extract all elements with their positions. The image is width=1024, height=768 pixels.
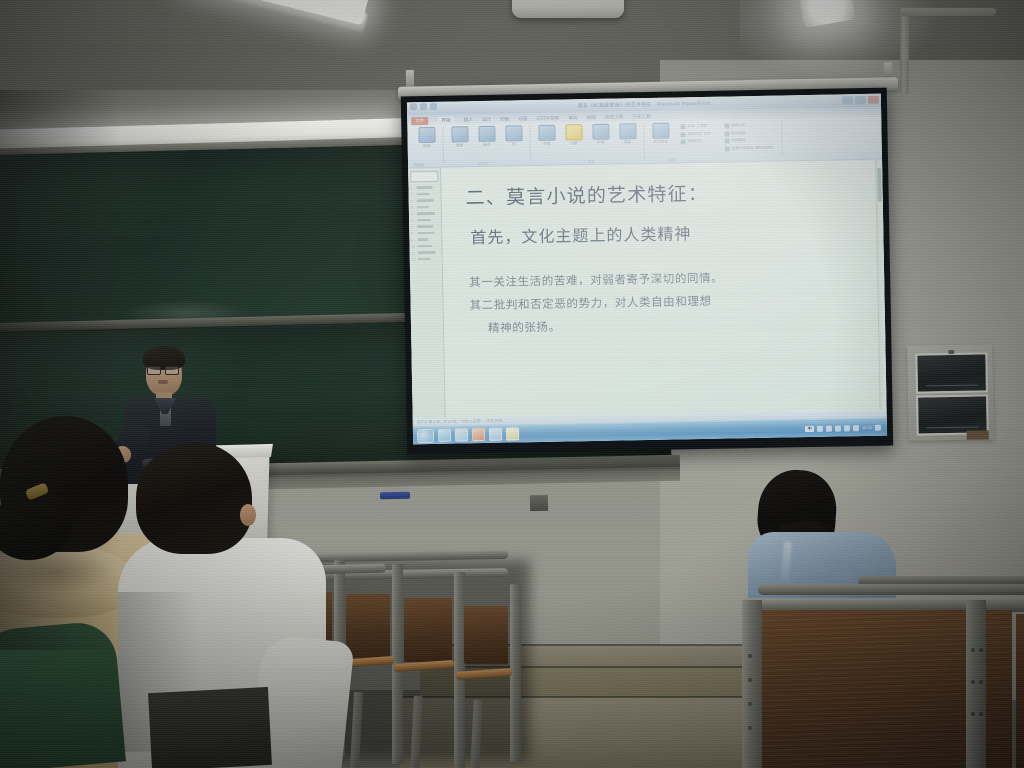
outline-row[interactable]: 8 bbox=[411, 231, 439, 236]
outline-row[interactable]: 7 bbox=[411, 224, 439, 229]
section-icon bbox=[505, 125, 522, 141]
outline-row[interactable]: 3 bbox=[411, 198, 439, 203]
ribbon-group-font-label: 字体 bbox=[588, 159, 595, 164]
ribbon-button-section[interactable]: 节 bbox=[502, 125, 524, 147]
outline-row[interactable]: 10 bbox=[412, 244, 440, 249]
ribbon-small-find[interactable]: 查找替换 bbox=[724, 130, 773, 136]
slide-number: 1 bbox=[410, 186, 414, 190]
desk-bolt bbox=[971, 712, 975, 716]
slide-number: 9 bbox=[411, 238, 415, 242]
outline-row[interactable]: 4 bbox=[411, 205, 439, 210]
ribbon-button-color-label: 颜色 bbox=[624, 140, 631, 145]
slide-number: 8 bbox=[411, 231, 415, 235]
student-front-center-hair bbox=[136, 442, 252, 554]
outline-row[interactable]: 9 bbox=[411, 237, 439, 242]
network-icon[interactable] bbox=[826, 425, 832, 431]
ribbon-button-layout[interactable]: 版式 bbox=[475, 126, 497, 148]
battery-icon[interactable] bbox=[835, 425, 841, 431]
slide-scrollbar-thumb[interactable] bbox=[877, 168, 882, 202]
outline-row[interactable]: 12 bbox=[412, 257, 440, 262]
slide-subtitle: 首先，文化主题上的人类精神 bbox=[470, 217, 869, 248]
desk-bolt bbox=[979, 680, 983, 684]
desk-bolt bbox=[748, 678, 752, 682]
outline-line bbox=[416, 186, 432, 189]
slide-number: 4 bbox=[411, 205, 415, 209]
desk-bolt bbox=[748, 654, 752, 658]
color-icon bbox=[619, 123, 636, 139]
foreground-chair-corner bbox=[148, 687, 272, 768]
seat-backrest bbox=[464, 606, 508, 664]
desk-bolt bbox=[971, 648, 975, 652]
shape-icon bbox=[680, 124, 685, 129]
powerpoint-window: 莫言《红高粱家族》的艺术特征 - Microsoft PowerPoint 文件… bbox=[407, 94, 887, 445]
internet-explorer-icon[interactable] bbox=[438, 429, 451, 442]
outline-line bbox=[417, 212, 435, 215]
ribbon-small-quickstyle-label: 快速样式 bbox=[688, 139, 702, 144]
outline-line bbox=[418, 251, 436, 254]
status-theme: “Office 主题” bbox=[461, 419, 481, 424]
slide-body-line: 精神的张扬。 bbox=[470, 313, 871, 336]
slide-number: 12 bbox=[412, 257, 416, 261]
outline-line bbox=[417, 238, 428, 241]
ribbon-small-quickstyle[interactable]: 快速样式 bbox=[681, 139, 712, 145]
outline-line bbox=[417, 225, 433, 228]
projection-screen-surface: 莫言《红高粱家族》的艺术特征 - Microsoft PowerPoint 文件… bbox=[407, 94, 887, 445]
ribbon-group-font[interactable]: 字体 加粗 字号 颜色 字体 bbox=[530, 123, 645, 161]
desk-frame-left bbox=[742, 600, 762, 768]
ribbon-button-shape-style-label: 形状样式 bbox=[653, 140, 667, 145]
slide-number: 6 bbox=[411, 218, 415, 222]
outline-row[interactable]: 5 bbox=[411, 211, 439, 216]
system-tray[interactable]: 中 10:24 bbox=[805, 424, 883, 431]
wall-speaker-upper-line bbox=[926, 384, 978, 386]
wall-conduit-vertical bbox=[900, 8, 909, 94]
desk-bolt bbox=[748, 726, 752, 730]
ribbon-button-font-label: 字体 bbox=[543, 142, 550, 147]
ribbon-group-clipboard[interactable]: 粘贴 剪贴板 bbox=[410, 127, 444, 164]
ppt-title-text: 莫言《红高粱家族》的艺术特征 - Microsoft PowerPoint bbox=[578, 100, 711, 109]
outline-row[interactable]: 2 bbox=[411, 192, 439, 197]
explorer-icon[interactable] bbox=[489, 428, 502, 441]
close-icon[interactable] bbox=[868, 96, 879, 104]
wall-conduit-horizontal bbox=[900, 8, 996, 16]
status-language: 中文(中国) bbox=[486, 418, 503, 423]
outline-line bbox=[418, 245, 433, 248]
desk-bolt bbox=[971, 680, 975, 684]
outline-row[interactable]: 11 bbox=[412, 250, 440, 255]
ribbon-button-paste[interactable]: 粘贴 bbox=[415, 127, 437, 149]
slide-number: 5 bbox=[411, 212, 415, 216]
edit-icon bbox=[724, 123, 729, 128]
selection-pane-icon bbox=[724, 138, 729, 143]
wall-panel-button-upper[interactable] bbox=[949, 350, 955, 354]
left-wall-shadow bbox=[0, 90, 120, 650]
ribbon-group-clipboard-label: 剪贴板 bbox=[414, 162, 424, 167]
seat-leg bbox=[470, 700, 483, 768]
quick-style-icon bbox=[681, 139, 686, 144]
shield-icon[interactable] bbox=[844, 425, 850, 431]
ceiling-projector bbox=[512, 0, 624, 18]
outline-line bbox=[417, 232, 434, 235]
new-slide-icon bbox=[451, 126, 468, 142]
ribbon-small-selpane[interactable]: 选择窗格 bbox=[724, 138, 773, 144]
blue-chalk-eraser bbox=[380, 492, 410, 500]
start-button[interactable] bbox=[417, 428, 434, 442]
ribbon-group-slides[interactable]: 新建 版式 节 幻灯片 bbox=[443, 125, 531, 163]
eyeglasses-right-lens bbox=[165, 366, 179, 375]
ribbon-small-edit-label: 编辑中文 bbox=[731, 123, 745, 128]
outline-row[interactable]: 6 bbox=[411, 218, 439, 223]
outline-line bbox=[417, 199, 434, 202]
ribbon-button-paste-label: 粘贴 bbox=[423, 144, 430, 149]
desk-bolt bbox=[748, 702, 752, 706]
ribbon-small-edit[interactable]: 编辑中文 bbox=[724, 123, 773, 129]
ribbon-small-shape[interactable]: 形状: 三角形 bbox=[680, 124, 711, 130]
desk-wood-panel-right-edge bbox=[1016, 614, 1024, 768]
slide-number: 11 bbox=[412, 251, 416, 255]
firefox-icon[interactable] bbox=[472, 428, 485, 441]
volume-icon[interactable] bbox=[817, 425, 823, 431]
status-slide-counter: 幻灯片 第 8 张，共 24 张 bbox=[417, 419, 457, 425]
slide-canvas[interactable]: 二、莫言小说的艺术特征： 首先，文化主题上的人类精神 其一关注生活的苦难，对弱者… bbox=[441, 160, 887, 418]
save-icon[interactable] bbox=[410, 103, 417, 110]
outline-line bbox=[417, 219, 431, 222]
slide-body: 其一关注生活的苦难，对弱者寄予深切的同情。 其二批判和否定恶的势力，对人类自由和… bbox=[469, 267, 871, 336]
ribbon-button-bold[interactable]: 加粗 bbox=[562, 124, 584, 146]
ribbon-small-arrange-label: 排列方式: 对齐 bbox=[687, 131, 711, 136]
slide-body-line: 其一关注生活的苦难，对弱者寄予深切的同情。 bbox=[469, 267, 870, 290]
arrange-icon bbox=[680, 132, 685, 137]
ribbon-group-slides-label: 幻灯片 bbox=[478, 161, 488, 166]
ribbon-button-bold-label: 加粗 bbox=[570, 141, 577, 146]
ribbon-small-format-label: 设置形状格式: 填充与线条 bbox=[731, 145, 773, 151]
paste-icon bbox=[418, 127, 435, 143]
ribbon-small-find-label: 查找替换 bbox=[731, 131, 745, 136]
slide-number: 10 bbox=[412, 244, 416, 248]
ribbon-button-layout-label: 版式 bbox=[483, 143, 490, 148]
slide-body-line: 其二批判和否定恶的势力，对人类自由和理想 bbox=[469, 290, 870, 313]
minimize-icon[interactable] bbox=[842, 96, 853, 104]
usb-icon[interactable] bbox=[853, 425, 859, 431]
slide-number: 3 bbox=[411, 199, 415, 203]
outline-line bbox=[417, 193, 430, 196]
desk-bolt bbox=[979, 648, 983, 652]
ledge-bracket-right bbox=[530, 495, 548, 511]
desk-bolt bbox=[979, 712, 983, 716]
font-icon bbox=[538, 125, 555, 141]
outline-line bbox=[417, 206, 429, 209]
clock[interactable]: 10:24 bbox=[862, 425, 872, 430]
ribbon-button-size[interactable]: 字号 bbox=[589, 124, 611, 146]
bold-icon bbox=[565, 124, 582, 140]
ribbon-small-controls-b[interactable]: 编辑中文 查找替换 选择窗格 设置形状格式: 填充与线条 bbox=[720, 121, 777, 152]
wall-panel-unit bbox=[907, 344, 994, 440]
ribbon-button-new-slide[interactable]: 新建 bbox=[448, 126, 470, 148]
wall-speaker-upper bbox=[915, 352, 988, 393]
ribbon-small-shape-label: 形状: 三角形 bbox=[687, 124, 707, 129]
ribbon-button-font[interactable]: 字体 bbox=[535, 125, 557, 147]
taskbar-spacer bbox=[523, 429, 801, 434]
shape-style-icon bbox=[652, 123, 669, 139]
desk-frame-right bbox=[966, 600, 986, 768]
wooden-lecture-desk bbox=[738, 584, 1024, 768]
wall-panel-base-trim bbox=[967, 430, 989, 439]
ribbon-button-new-slide-label: 新建 bbox=[456, 143, 463, 148]
window-controls[interactable] bbox=[842, 96, 879, 105]
ribbon-small-format[interactable]: 设置形状格式: 填充与线条 bbox=[724, 145, 773, 151]
seat-post bbox=[454, 572, 465, 768]
format-shape-icon bbox=[724, 146, 729, 151]
ribbon-button-size-label: 字号 bbox=[597, 141, 604, 146]
ppt-workspace: 1 2 3 4 5 bbox=[408, 160, 887, 419]
slide-title: 二、莫言小说的艺术特征： bbox=[465, 176, 868, 210]
media-player-icon[interactable] bbox=[455, 428, 468, 441]
ribbon-button-color[interactable]: 颜色 bbox=[616, 123, 638, 145]
ribbon-small-selpane-label: 选择窗格 bbox=[731, 138, 745, 143]
ime-indicator[interactable]: 中 bbox=[805, 425, 814, 431]
undo-icon[interactable] bbox=[420, 103, 427, 110]
seat-leg bbox=[410, 696, 423, 768]
ribbon-button-shape-style[interactable]: 形状样式 bbox=[649, 123, 671, 145]
layout-icon bbox=[478, 126, 495, 142]
wall-speaker-lower-line bbox=[927, 426, 979, 428]
eyeglasses-bridge bbox=[159, 369, 165, 370]
seat-backrest bbox=[404, 598, 452, 662]
quick-access-toolbar[interactable] bbox=[410, 103, 437, 110]
outline-row[interactable]: 1 bbox=[410, 185, 438, 190]
lecture-hall-scene: 莫言《红高粱家族》的艺术特征 - Microsoft PowerPoint 文件… bbox=[0, 0, 1024, 768]
student-front-center-ear bbox=[240, 504, 256, 526]
eyeglasses-left-lens bbox=[147, 366, 161, 375]
size-icon bbox=[592, 124, 609, 140]
wall-speaker-lower bbox=[916, 394, 989, 435]
show-desktop-icon[interactable] bbox=[875, 424, 881, 430]
find-replace-icon bbox=[724, 131, 729, 136]
slide-number: 2 bbox=[411, 192, 415, 196]
ribbon-group-drawing-label: 绘图 bbox=[668, 157, 675, 162]
ribbon-group-drawing[interactable]: 形状样式 形状: 三角形 排列方式: 对齐 快速样式 bbox=[644, 120, 783, 159]
lecturer-mouth bbox=[158, 380, 168, 384]
powerpoint-taskbar-icon[interactable] bbox=[506, 427, 519, 440]
ribbon-button-section-label: 节 bbox=[512, 142, 516, 147]
ribbon-small-arrange[interactable]: 排列方式: 对齐 bbox=[680, 131, 711, 137]
ribbon-small-controls-a[interactable]: 形状: 三角形 排列方式: 对齐 快速样式 bbox=[676, 122, 715, 145]
maximize-icon[interactable] bbox=[855, 96, 866, 104]
slide-thumbnail-pane[interactable]: 1 2 3 4 5 bbox=[408, 168, 446, 419]
redo-icon[interactable] bbox=[430, 103, 437, 110]
desk-back-rail bbox=[758, 584, 1024, 595]
slide-thumbnail[interactable] bbox=[410, 171, 438, 183]
outline-line bbox=[418, 258, 431, 261]
slide-number: 7 bbox=[411, 225, 415, 229]
